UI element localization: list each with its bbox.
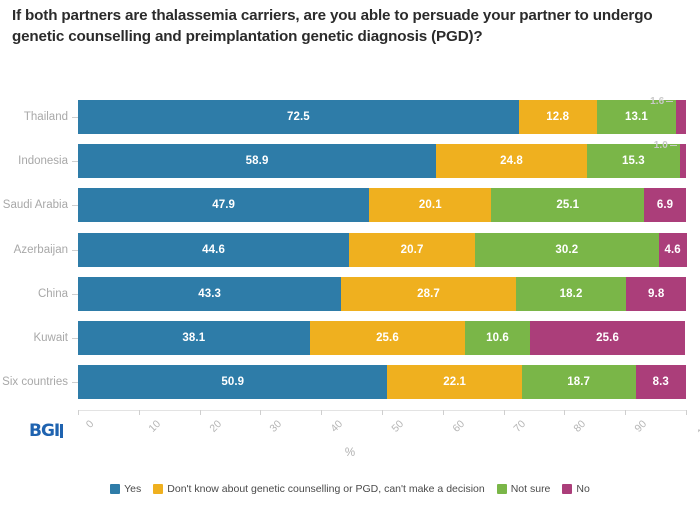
bar-segment[interactable]: 4.6	[659, 233, 687, 267]
x-axis-tick-label: 70	[511, 418, 528, 435]
bar-row[interactable]: Indonesia58.924.815.31.0	[78, 144, 686, 178]
bar-segment-outside-label: 1.0	[654, 140, 677, 151]
bgi-logo: BGI	[28, 421, 64, 441]
x-axis-tick-label: 60	[450, 418, 467, 435]
x-axis-tick-mark	[504, 410, 505, 415]
bar-segment[interactable]: 9.8	[626, 277, 686, 311]
bar-segment[interactable]: 28.7	[341, 277, 515, 311]
bar-segment[interactable]: 18.2	[516, 277, 627, 311]
bar-segment[interactable]: 44.6	[78, 233, 349, 267]
page-title: If both partners are thalassemia carrier…	[12, 6, 684, 48]
bgi-logo-accent	[60, 424, 63, 438]
x-axis-tick-mark	[382, 410, 383, 415]
legend-swatch-icon	[110, 484, 120, 494]
y-axis-category-label: Six countries	[0, 365, 68, 399]
legend-item[interactable]: Not sure	[497, 484, 551, 495]
x-axis-tick-label: 90	[633, 418, 650, 435]
legend-item[interactable]: Yes	[110, 484, 141, 495]
chart-plot-area: Thailand72.512.813.11.6Indonesia58.924.8…	[78, 100, 686, 410]
bar-segment[interactable]: 50.9	[78, 365, 387, 399]
x-axis-tick-mark	[686, 410, 687, 415]
y-axis-category-label: Kuwait	[0, 321, 68, 355]
legend-label: No	[576, 484, 589, 495]
bar-segment[interactable]: 12.8	[519, 100, 597, 134]
x-axis-tick-label: 80	[572, 418, 589, 435]
bar-segment[interactable]: 18.7	[522, 365, 636, 399]
chart-legend: YesDon't know about genetic counselling …	[0, 484, 700, 495]
bar-segment[interactable]: 25.6	[530, 321, 686, 355]
x-axis-tick-mark	[443, 410, 444, 415]
x-axis-tick-mark	[260, 410, 261, 415]
bar-segment[interactable]: 20.7	[349, 233, 475, 267]
bar-row[interactable]: Saudi Arabia47.920.125.16.9	[78, 188, 686, 222]
legend-swatch-icon	[153, 484, 163, 494]
x-axis-tick-label: 40	[329, 418, 346, 435]
x-axis-title: %	[0, 447, 700, 459]
bgi-logo-text: BGI	[29, 421, 59, 441]
bar-segment[interactable]: 25.6	[310, 321, 466, 355]
x-axis-tick-label: 30	[268, 418, 285, 435]
y-axis-category-label: Thailand	[0, 100, 68, 134]
bar-segment[interactable]: 8.3	[636, 365, 686, 399]
legend-item[interactable]: Don't know about genetic counselling or …	[153, 484, 484, 495]
bar-segment[interactable]: 25.1	[491, 188, 644, 222]
x-axis-tick-mark	[200, 410, 201, 415]
x-axis-tick-label: 0	[84, 418, 97, 431]
bar-segment[interactable]: 47.9	[78, 188, 369, 222]
legend-label: Not sure	[511, 484, 551, 495]
y-axis-category-label: Saudi Arabia	[0, 188, 68, 222]
x-axis-tick-label: 50	[389, 418, 406, 435]
bar-row[interactable]: China43.328.718.29.8	[78, 277, 686, 311]
bar-row[interactable]: Six countries50.922.118.78.3	[78, 365, 686, 399]
bar-segment[interactable]: 72.5	[78, 100, 519, 134]
bar-segment-outside-label: 1.6	[650, 96, 673, 107]
bar-segment[interactable]: 38.1	[78, 321, 310, 355]
bar-segment[interactable]: 30.2	[475, 233, 659, 267]
y-axis-category-label: Azerbaijan	[0, 233, 68, 267]
x-axis-tick-mark	[78, 410, 79, 415]
x-axis-tick-mark	[139, 410, 140, 415]
bar-row[interactable]: Azerbaijan44.620.730.24.6	[78, 233, 686, 267]
bar-segment[interactable]: 20.1	[369, 188, 491, 222]
x-axis-tick-label: 100	[695, 418, 700, 439]
bar-row[interactable]: Thailand72.512.813.11.6	[78, 100, 686, 134]
x-axis-tick-mark	[625, 410, 626, 415]
bar-segment[interactable]: 24.8	[436, 144, 587, 178]
legend-item[interactable]: No	[562, 484, 589, 495]
legend-swatch-icon	[497, 484, 507, 494]
bar-segment[interactable]: 10.6	[465, 321, 529, 355]
x-axis-tick-label: 10	[146, 418, 163, 435]
bar-segment[interactable]: 1.6	[676, 100, 686, 134]
bar-segment[interactable]: 58.9	[78, 144, 436, 178]
legend-swatch-icon	[562, 484, 572, 494]
x-axis-tick-mark	[564, 410, 565, 415]
bar-segment[interactable]: 43.3	[78, 277, 341, 311]
x-axis-tick-label: 20	[207, 418, 224, 435]
bar-segment[interactable]: 1.0	[680, 144, 686, 178]
x-axis-tick-mark	[321, 410, 322, 415]
legend-label: Don't know about genetic counselling or …	[167, 484, 484, 495]
legend-label: Yes	[124, 484, 141, 495]
bar-row[interactable]: Kuwait38.125.610.625.6	[78, 321, 686, 355]
y-axis-category-label: Indonesia	[0, 144, 68, 178]
bar-segment[interactable]: 22.1	[387, 365, 521, 399]
y-axis-category-label: China	[0, 277, 68, 311]
bar-segment[interactable]: 6.9	[644, 188, 686, 222]
